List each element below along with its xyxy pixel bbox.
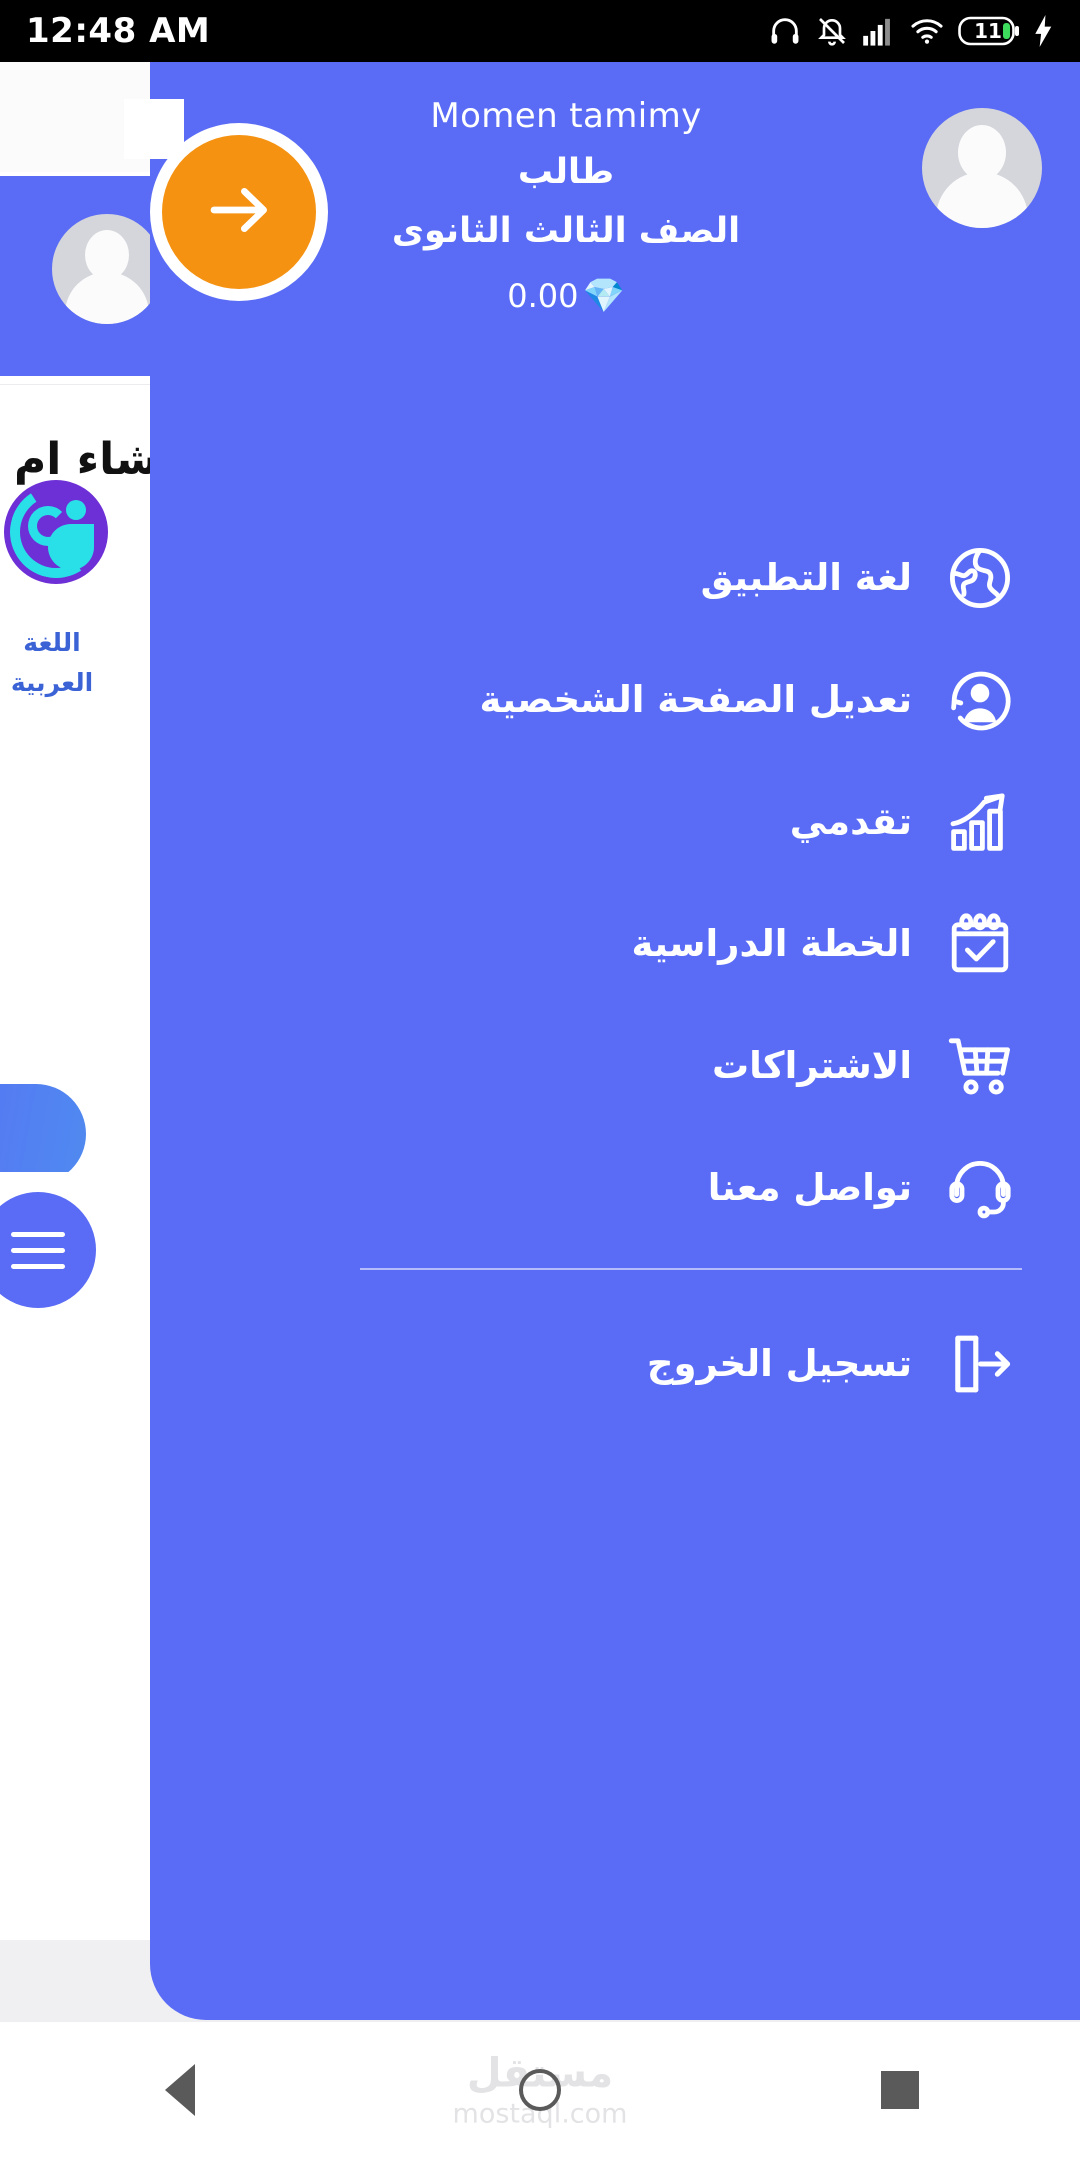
edit-profile-icon (938, 658, 1022, 742)
menu-item-app-language[interactable]: لغة التطبيق (150, 532, 1080, 624)
bell-muted-icon (816, 15, 848, 47)
cellular-signal-icon (862, 16, 896, 46)
points-value: 0.00 (507, 277, 578, 315)
menu-item-label: تسجيل الخروج (150, 1341, 938, 1387)
menu-item-study-plan[interactable]: الخطة الدراسية (150, 898, 1080, 990)
language-label-line1: اللغة (0, 628, 104, 657)
menu-item-label: تقدمي (150, 799, 938, 845)
menu-item-label: الخطة الدراسية (150, 921, 938, 967)
system-navigation-bar: مستقل mostaql.com (0, 2020, 1080, 2160)
menu-item-contact-us[interactable]: تواصل معنا (150, 1142, 1080, 1234)
menu-item-label: لغة التطبيق (150, 555, 938, 601)
gem-icon: 💎 (582, 276, 624, 316)
headphones-icon (768, 14, 802, 48)
arrow-right-icon (199, 170, 279, 254)
fab-notch (124, 99, 184, 159)
drawer-close-fab-wrap (150, 123, 328, 301)
drawer-close-button[interactable] (162, 135, 316, 289)
recents-square-icon (881, 2071, 919, 2109)
avatar[interactable] (922, 108, 1042, 228)
drawer-profile-header[interactable]: Momen tamimy طالب الصف الثالث الثانوى 0.… (210, 100, 1042, 316)
status-bar: 12:48 AM (0, 0, 1080, 62)
nav-recents-button[interactable] (820, 2020, 980, 2160)
menu-item-edit-profile[interactable]: تعديل الصفحة الشخصية (150, 654, 1080, 746)
battery-icon: 11 (958, 15, 1020, 47)
navbar-top-border (0, 2020, 1080, 2022)
menu-divider (360, 1268, 1022, 1270)
home-circle-icon (519, 2069, 561, 2111)
shopping-cart-icon (938, 1024, 1022, 1108)
menu-item-label: تعديل الصفحة الشخصية (150, 677, 938, 723)
nav-home-button[interactable] (460, 2020, 620, 2160)
menu-item-label: الاشتراكات (150, 1043, 938, 1089)
menu-item-subscriptions[interactable]: الاشتراكات (150, 1020, 1080, 1112)
calendar-check-icon (938, 902, 1022, 986)
back-triangle-icon (165, 2064, 195, 2116)
navigation-drawer: Momen tamimy طالب الصف الثالث الثانوى 0.… (150, 62, 1080, 2020)
status-time: 12:48 AM (26, 11, 210, 51)
logout-icon (938, 1322, 1022, 1406)
globe-icon (938, 536, 1022, 620)
battery-level-label: 11 (958, 15, 1018, 47)
drawer-menu-list: لغة التطبيق تعديل الصفحة الشخصية (150, 532, 1080, 1440)
nav-back-button[interactable] (100, 2020, 260, 2160)
language-label-line2: العربية (0, 668, 104, 697)
background-card-avatar (52, 214, 162, 324)
status-icon-group: 11 (768, 14, 1054, 48)
menu-item-logout[interactable]: تسجيل الخروج (150, 1318, 1080, 1410)
wifi-icon (910, 17, 944, 45)
charging-bolt-icon (1034, 15, 1054, 47)
app-language-logo-icon[interactable] (4, 480, 108, 584)
progress-chart-icon (938, 780, 1022, 864)
headset-support-icon (938, 1146, 1022, 1230)
phone-screen: 12:48 AM (0, 0, 1080, 2160)
menu-item-my-progress[interactable]: تقدمي (150, 776, 1080, 868)
menu-item-label: تواصل معنا (150, 1165, 938, 1211)
